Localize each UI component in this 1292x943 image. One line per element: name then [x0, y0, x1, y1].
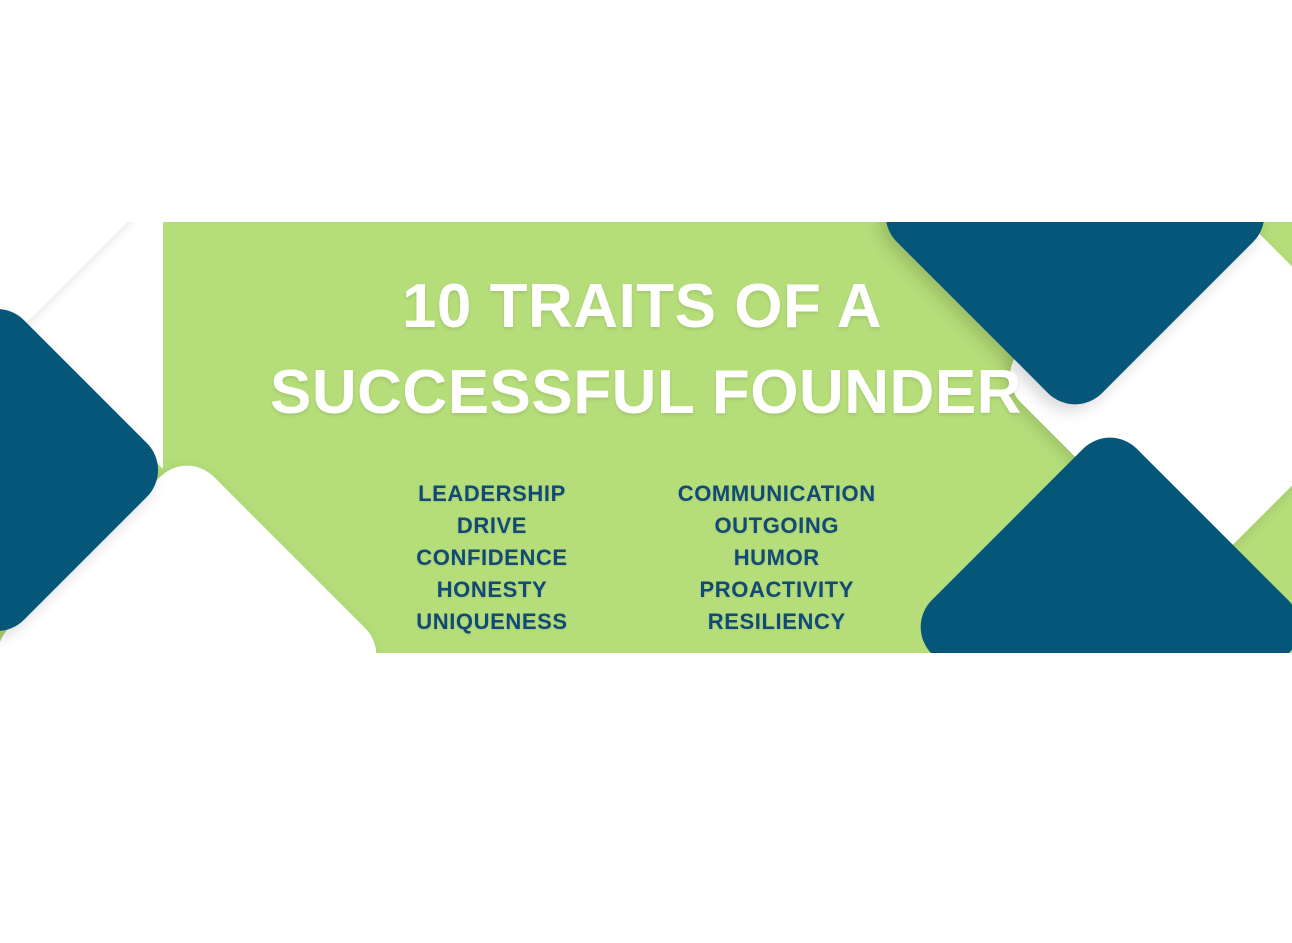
trait-item: OUTGOING: [678, 510, 876, 542]
trait-item: LEADERSHIP: [416, 478, 567, 510]
trait-item: COMMUNICATION: [678, 478, 876, 510]
traits-column-right: COMMUNICATION OUTGOING HUMOR PROACTIVITY…: [678, 478, 876, 638]
trait-item: HUMOR: [678, 542, 876, 574]
trait-item: DRIVE: [416, 510, 567, 542]
traits-column-left: LEADERSHIP DRIVE CONFIDENCE HONESTY UNIQ…: [416, 478, 567, 638]
banner-title: 10 TRAITS OF A SUCCESSFUL FOUNDER: [0, 264, 1292, 436]
traits-lists: LEADERSHIP DRIVE CONFIDENCE HONESTY UNIQ…: [0, 478, 1292, 638]
trait-item: RESILIENCY: [678, 606, 876, 638]
page-canvas: 10 TRAITS OF A SUCCESSFUL FOUNDER LEADER…: [0, 0, 1292, 943]
trait-item: CONFIDENCE: [416, 542, 567, 574]
trait-item: HONESTY: [416, 574, 567, 606]
founder-traits-banner: 10 TRAITS OF A SUCCESSFUL FOUNDER LEADER…: [0, 222, 1292, 653]
trait-item: UNIQUENESS: [416, 606, 567, 638]
banner-title-line-1: 10 TRAITS OF A: [0, 264, 1292, 350]
trait-item: PROACTIVITY: [678, 574, 876, 606]
banner-title-line-2: SUCCESSFUL FOUNDER: [0, 350, 1292, 436]
